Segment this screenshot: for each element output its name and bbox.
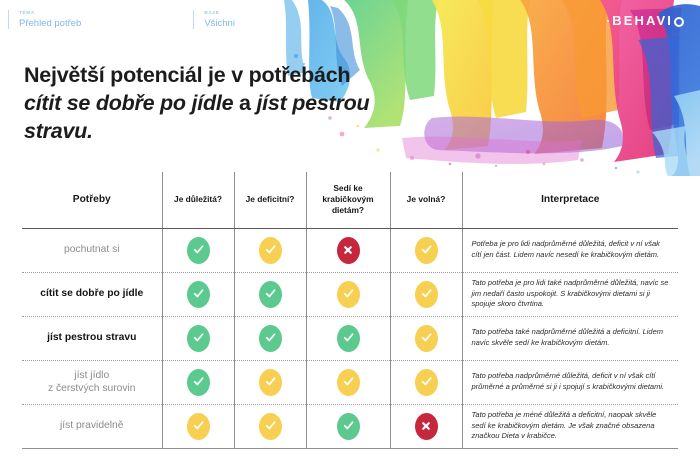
check-icon bbox=[415, 325, 438, 352]
cell-q3 bbox=[306, 316, 390, 360]
cell-q1 bbox=[162, 228, 234, 272]
cross-icon bbox=[415, 413, 438, 440]
table-row: jíst pestrou stravuTato potřeba také nad… bbox=[22, 316, 678, 360]
cell-q4 bbox=[390, 404, 462, 448]
cell-q1 bbox=[162, 272, 234, 316]
status-pill-q1 bbox=[187, 325, 210, 352]
headline-emphasis-2: jíst pestrou bbox=[256, 91, 369, 115]
check-icon bbox=[415, 237, 438, 264]
cell-q4 bbox=[390, 360, 462, 404]
check-icon bbox=[337, 413, 360, 440]
check-icon bbox=[259, 325, 282, 352]
status-pill-q3 bbox=[337, 369, 360, 396]
row-need-label: pochutnat si bbox=[22, 228, 162, 272]
column-header-fits-boxdiet: Sedí ke krabičkovým dietám? bbox=[306, 172, 390, 228]
row-interpretation: Tato potřeba nadprůměrné důležitá, defic… bbox=[462, 360, 678, 404]
column-header-free: Je volná? bbox=[390, 172, 462, 228]
meta-block-baze: BÁZE Všichni bbox=[193, 10, 235, 29]
page-title: Největší potenciál je v potřebách cítit … bbox=[24, 62, 454, 146]
cell-q2 bbox=[234, 272, 306, 316]
status-pill-q2 bbox=[259, 237, 282, 264]
needs-matrix-table: Potřeby Je důležitá? Je deficitní? Sedí … bbox=[22, 172, 678, 449]
row-interpretation: Potřeba je pro lidi nadprůměrné důležitá… bbox=[462, 228, 678, 272]
check-icon bbox=[259, 369, 282, 396]
check-icon bbox=[259, 281, 282, 308]
cell-q1 bbox=[162, 360, 234, 404]
cell-q3 bbox=[306, 228, 390, 272]
column-header-needs: Potřeby bbox=[22, 172, 162, 228]
status-pill-q1 bbox=[187, 281, 210, 308]
row-interpretation: Tato potřeba je méné důležitá a deficitn… bbox=[462, 404, 678, 448]
check-icon bbox=[337, 369, 360, 396]
cell-q2 bbox=[234, 360, 306, 404]
status-pill-q4 bbox=[415, 325, 438, 352]
check-icon bbox=[415, 369, 438, 396]
row-interpretation: Tato potřeba je pro lidi také nadprůměrn… bbox=[462, 272, 678, 316]
table-row: cítit se dobře po jídleTato potřeba je p… bbox=[22, 272, 678, 316]
cell-q2 bbox=[234, 228, 306, 272]
cell-q3 bbox=[306, 272, 390, 316]
table-header-row: Potřeby Je důležitá? Je deficitní? Sedí … bbox=[22, 172, 678, 228]
status-pill-q4 bbox=[415, 237, 438, 264]
cell-q4 bbox=[390, 228, 462, 272]
row-need-label: jíst jídloz čerstvých surovin bbox=[22, 360, 162, 404]
meta-block-tema: TÉMA Přehled potřeb bbox=[8, 10, 81, 29]
status-pill-q3 bbox=[337, 413, 360, 440]
check-icon bbox=[337, 281, 360, 308]
status-pill-q3 bbox=[337, 237, 360, 264]
column-header-important: Je důležitá? bbox=[162, 172, 234, 228]
meta-label-baze: BÁZE bbox=[204, 10, 235, 16]
behavio-logo: BEHAVI bbox=[607, 13, 684, 28]
header-meta-bar: TÉMA Přehled potřeb BÁZE Všichni bbox=[0, 10, 245, 29]
cell-q1 bbox=[162, 404, 234, 448]
cell-q3 bbox=[306, 360, 390, 404]
cell-q2 bbox=[234, 404, 306, 448]
check-icon bbox=[187, 237, 210, 264]
cell-q3 bbox=[306, 404, 390, 448]
table-row: jíst jídloz čerstvých surovinTato potřeb… bbox=[22, 360, 678, 404]
table-header: Potřeby Je důležitá? Je deficitní? Sedí … bbox=[22, 172, 678, 228]
check-icon bbox=[415, 281, 438, 308]
check-icon bbox=[259, 413, 282, 440]
meta-spacer bbox=[91, 10, 193, 29]
status-pill-q2 bbox=[259, 281, 282, 308]
column-header-deficit: Je deficitní? bbox=[234, 172, 306, 228]
table-row: pochutnat siPotřeba je pro lidi nadprůmě… bbox=[22, 228, 678, 272]
status-pill-q4 bbox=[415, 369, 438, 396]
row-need-label: jíst pestrou stravu bbox=[22, 316, 162, 360]
meta-label-tema: TÉMA bbox=[19, 10, 81, 16]
check-icon bbox=[187, 281, 210, 308]
headline-conjunction: a bbox=[233, 91, 256, 115]
status-pill-q3 bbox=[337, 281, 360, 308]
meta-value-baze: Všichni bbox=[204, 18, 235, 29]
logo-dot bbox=[607, 20, 609, 22]
table-row: jíst pravidelněTato potřeba je méné důle… bbox=[22, 404, 678, 448]
row-need-label: jíst pravidelně bbox=[22, 404, 162, 448]
status-pill-q3 bbox=[337, 325, 360, 352]
status-pill-q4 bbox=[415, 281, 438, 308]
cell-q1 bbox=[162, 316, 234, 360]
cell-q4 bbox=[390, 316, 462, 360]
check-icon bbox=[187, 369, 210, 396]
table-body: pochutnat siPotřeba je pro lidi nadprůmě… bbox=[22, 228, 678, 448]
status-pill-q2 bbox=[259, 369, 282, 396]
headline-emphasis-3: stravu. bbox=[24, 119, 93, 143]
headline-emphasis-1: cítit se dobře po jídle bbox=[24, 91, 233, 115]
check-icon bbox=[187, 413, 210, 440]
check-icon bbox=[337, 325, 360, 352]
logo-ring-o-icon bbox=[674, 17, 684, 27]
status-pill-q2 bbox=[259, 325, 282, 352]
cross-icon bbox=[337, 237, 360, 264]
status-pill-q1 bbox=[187, 413, 210, 440]
column-header-interpretation: Interpretace bbox=[462, 172, 678, 228]
status-pill-q2 bbox=[259, 413, 282, 440]
meta-value-tema: Přehled potřeb bbox=[19, 18, 81, 29]
logo-text: BEHAVI bbox=[612, 13, 673, 28]
slide-root: TÉMA Přehled potřeb BÁZE Všichni BEHAVI … bbox=[0, 0, 700, 458]
headline-line-1: Největší potenciál je v potřebách bbox=[24, 63, 350, 87]
check-icon bbox=[187, 325, 210, 352]
cell-q2 bbox=[234, 316, 306, 360]
row-need-label: cítit se dobře po jídle bbox=[22, 272, 162, 316]
check-icon bbox=[259, 237, 282, 264]
status-pill-q4 bbox=[415, 413, 438, 440]
status-pill-q1 bbox=[187, 369, 210, 396]
status-pill-q1 bbox=[187, 237, 210, 264]
row-interpretation: Tato potřeba také nadprůměrné důležitá a… bbox=[462, 316, 678, 360]
cell-q4 bbox=[390, 272, 462, 316]
